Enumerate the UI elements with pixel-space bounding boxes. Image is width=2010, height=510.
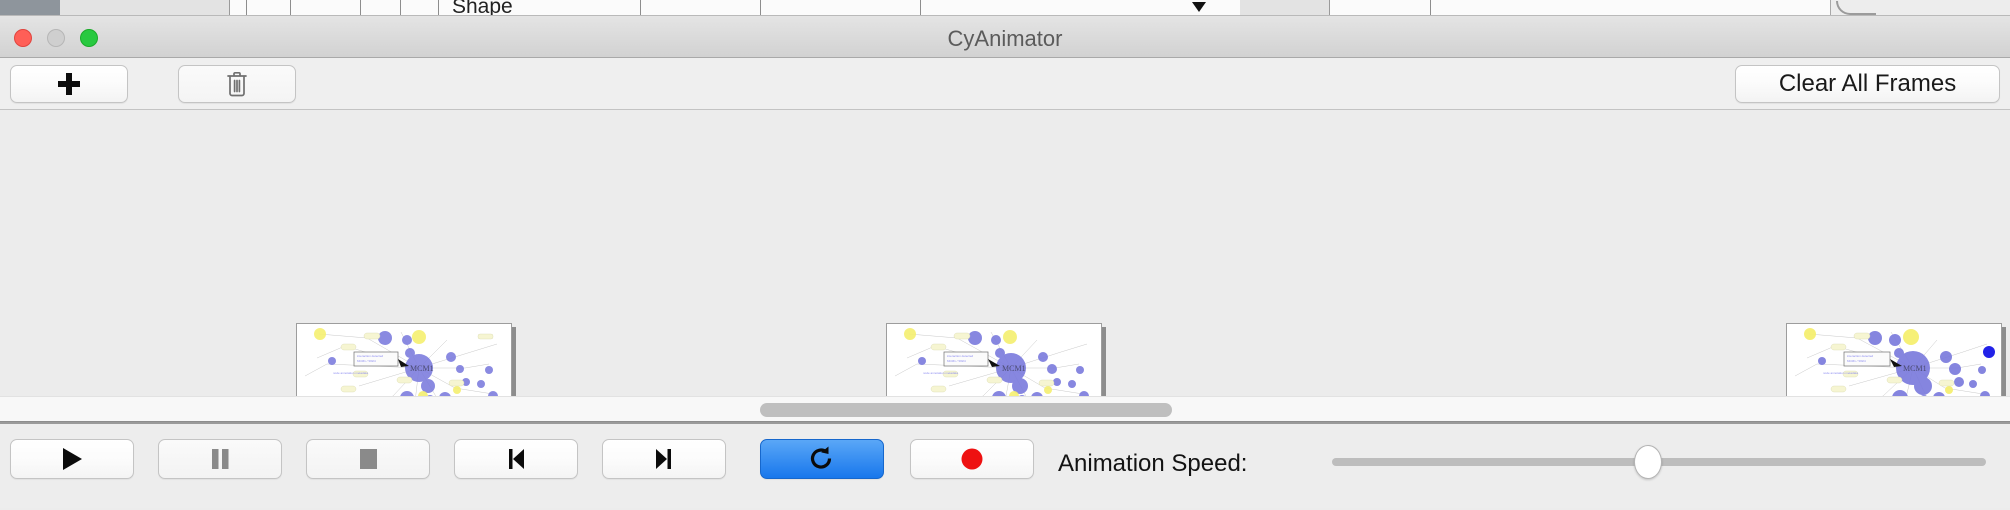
playback-control-bar: Animation Speed:: [0, 422, 2010, 508]
record-icon: [959, 446, 985, 472]
svg-text:MCM1: MCM1: [1002, 364, 1026, 373]
stop-icon: [355, 445, 381, 473]
skip-forward-icon: [651, 445, 677, 473]
control-bar-separator: [0, 422, 2010, 424]
play-icon: [59, 445, 85, 473]
window-title: CyAnimator: [0, 26, 2010, 52]
stop-button[interactable]: [306, 439, 430, 479]
background-curve-icon: [1836, 1, 1876, 15]
slider-thumb[interactable]: [1634, 445, 1662, 479]
svg-text:node annotation metadata: node annotation metadata: [333, 371, 368, 375]
loop-button[interactable]: [760, 439, 884, 479]
svg-text:MCM1: MCM1: [410, 364, 434, 373]
background-tick: [1430, 0, 1431, 15]
delete-frame-button[interactable]: [178, 65, 296, 103]
play-button[interactable]: [10, 439, 134, 479]
timeline-scrollbar[interactable]: [0, 396, 2010, 422]
pause-icon: [207, 445, 233, 473]
svg-text:MCM1 / SWI4: MCM1 / SWI4: [357, 359, 376, 363]
svg-text:node annotation metadata: node annotation metadata: [1823, 371, 1858, 375]
next-button[interactable]: [602, 439, 726, 479]
animation-speed-slider[interactable]: [1332, 458, 1986, 466]
plus-icon: [57, 72, 81, 96]
timeline-scrollbar-thumb[interactable]: [760, 403, 1172, 417]
background-chip: [60, 0, 230, 15]
background-tick: [290, 0, 291, 15]
timeline-panel[interactable]: interaction detected MCM1 / SWI4 node an…: [0, 110, 2010, 422]
background-app-strip: Shape: [0, 0, 2010, 16]
background-chip: [1240, 0, 1330, 15]
frame-toolbar: Clear All Frames: [0, 58, 2010, 110]
background-tick: [246, 0, 247, 15]
background-shape-label: Shape: [452, 0, 513, 16]
svg-text:interaction detected: interaction detected: [1847, 354, 1874, 358]
background-tick: [640, 0, 641, 15]
svg-text:interaction detected: interaction detected: [947, 354, 974, 358]
pause-button[interactable]: [158, 439, 282, 479]
svg-text:MCM1: MCM1: [1903, 364, 1927, 373]
background-dark-chip: [0, 0, 60, 16]
svg-text:node annotation metadata: node annotation metadata: [923, 371, 958, 375]
svg-text:MCM1 / SWI4: MCM1 / SWI4: [1847, 359, 1866, 363]
trash-icon: [226, 71, 248, 97]
svg-text:MCM1 / SWI4: MCM1 / SWI4: [947, 359, 966, 363]
background-arrow-icon: [1192, 2, 1206, 12]
skip-back-icon: [503, 445, 529, 473]
loop-icon: [807, 444, 837, 474]
window-titlebar: CyAnimator: [0, 16, 2010, 58]
cyanimator-window: CyAnimator Clear All Frames: [0, 16, 2010, 510]
record-button[interactable]: [910, 439, 1034, 479]
add-frame-button[interactable]: [10, 65, 128, 103]
background-tick: [760, 0, 761, 15]
animation-speed-label: Animation Speed:: [1058, 450, 1247, 478]
background-tick: [360, 0, 361, 15]
background-tick: [400, 0, 401, 15]
clear-all-frames-button[interactable]: Clear All Frames: [1735, 65, 2000, 103]
previous-button[interactable]: [454, 439, 578, 479]
background-tick: [920, 0, 921, 15]
svg-text:interaction detected: interaction detected: [357, 354, 384, 358]
background-tick: [438, 0, 439, 15]
